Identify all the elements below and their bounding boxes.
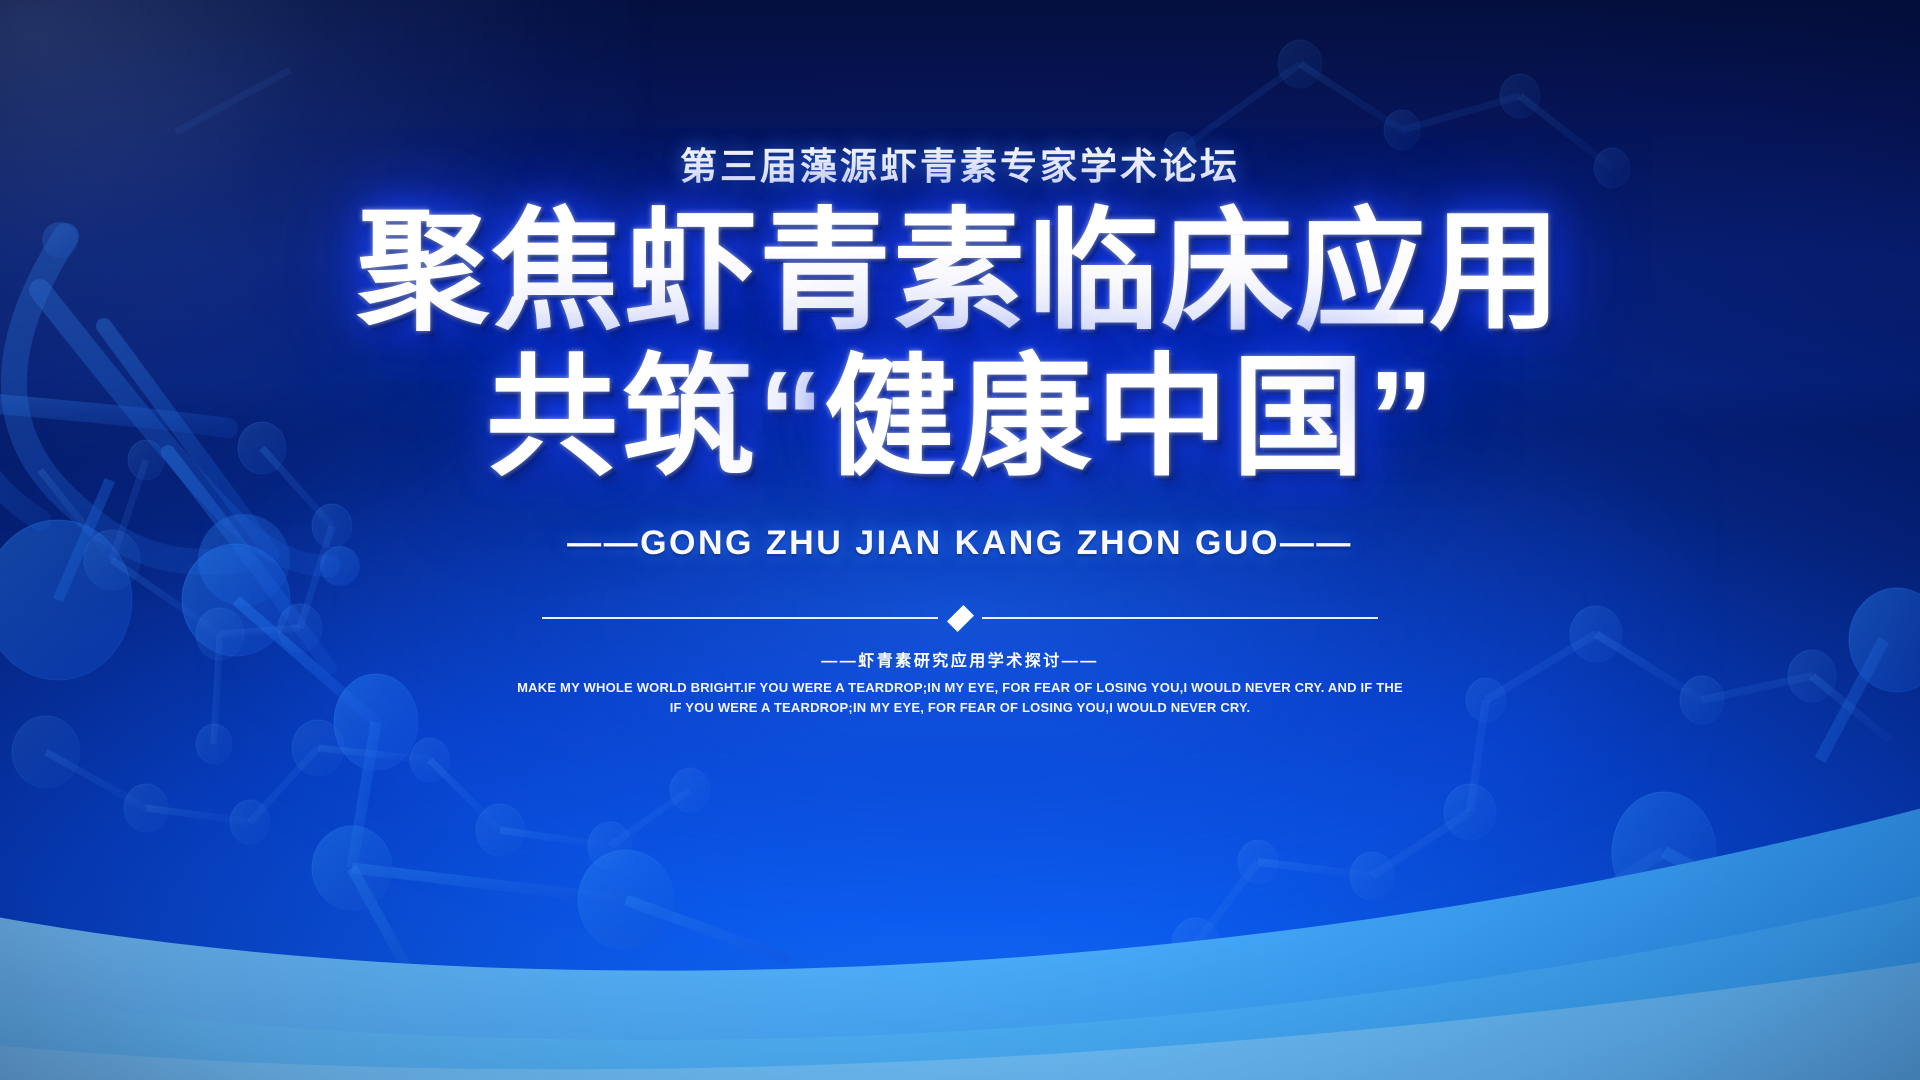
- ornamental-divider: [542, 607, 1378, 629]
- english-caption-line-2: IF YOU WERE A TEARDROP;IN MY EYE, FOR FE…: [517, 698, 1403, 718]
- english-caption-line-1: MAKE MY WHOLE WORLD BRIGHT.IF YOU WERE A…: [517, 678, 1403, 698]
- title-pinyin: ——GONG ZHU JIAN KANG ZHON GUO——: [567, 524, 1353, 563]
- divider-rule-left: [542, 617, 938, 619]
- divider-rule-right: [982, 617, 1378, 619]
- diamond-icon: [946, 604, 973, 631]
- title-line-2-prefix: 共筑: [486, 344, 758, 491]
- quote-close-icon: ”: [1368, 344, 1434, 491]
- poster-content: 第三届藻源虾青素专家学术论坛 聚焦虾青素临床应用 共筑“健康中国” ——GONG…: [0, 0, 1920, 1080]
- event-kicker: 第三届藻源虾青素专家学术论坛: [680, 136, 1240, 190]
- title-line-2: 共筑“健康中国”: [357, 352, 1563, 484]
- main-title: 聚焦虾青素临床应用 共筑“健康中国”: [357, 206, 1563, 484]
- poster-canvas: 第三届藻源虾青素专家学术论坛 聚焦虾青素临床应用 共筑“健康中国” ——GONG…: [0, 0, 1920, 1080]
- title-line-2-main: 健康中国: [824, 344, 1368, 491]
- english-caption: MAKE MY WHOLE WORLD BRIGHT.IF YOU WERE A…: [517, 678, 1403, 718]
- sub-theme-line: ——虾青素研究应用学术探讨——: [821, 647, 1099, 671]
- title-line-1: 聚焦虾青素临床应用: [357, 206, 1563, 338]
- quote-open-icon: “: [758, 344, 824, 491]
